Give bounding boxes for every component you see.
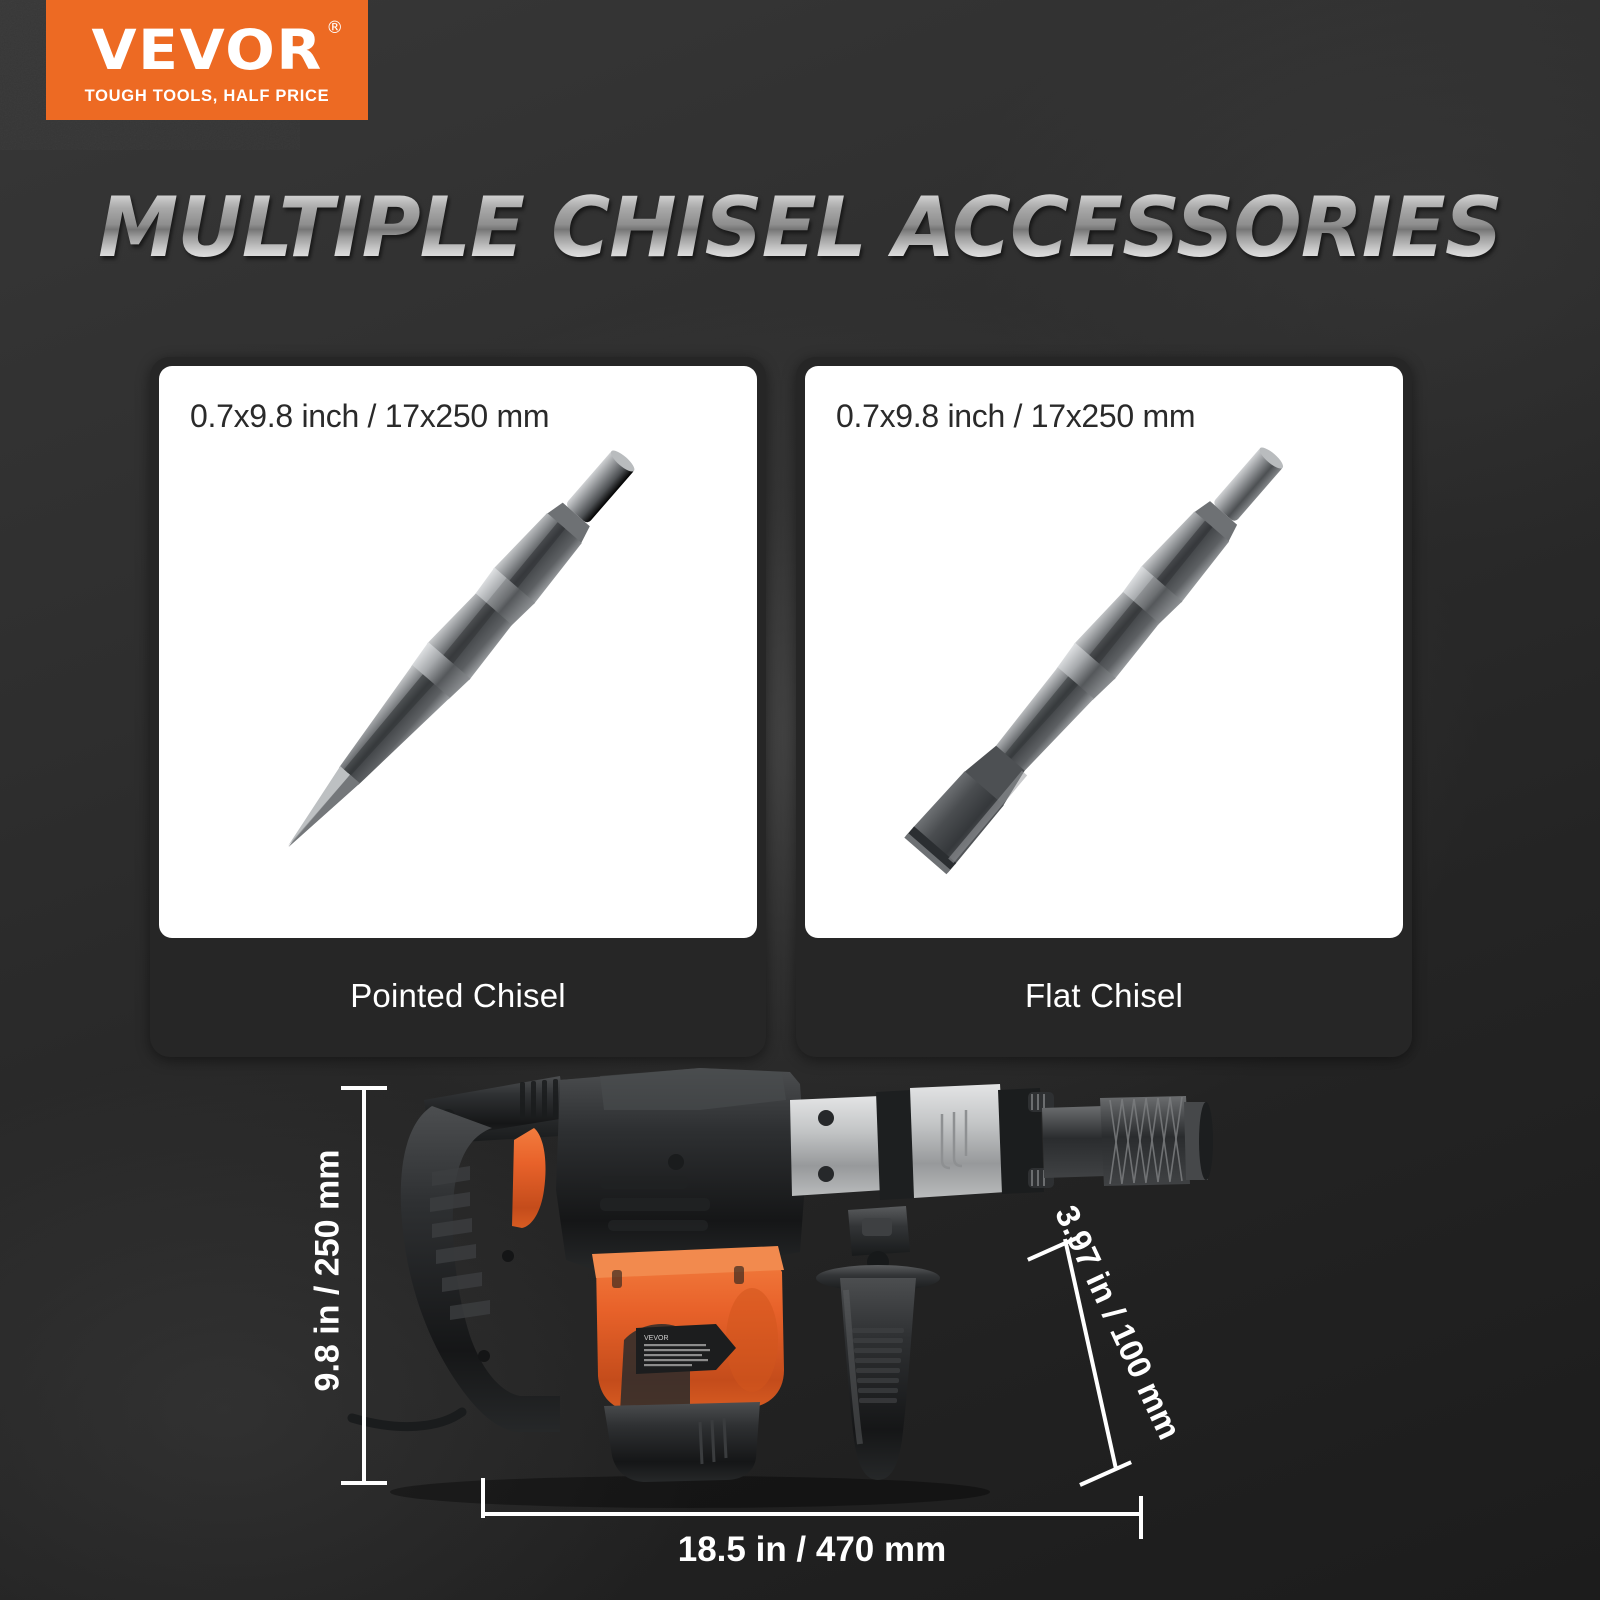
width-dimension-line [481,1512,1143,1516]
flat-chisel-illustration [805,366,1403,938]
width-dimension-cap-left [481,1478,485,1518]
rotary-hammer-drill-illustration: VEVOR [0,1040,1600,1510]
poster-canvas: VEVOR® TOUGH TOOLS, HALF PRICE MULTIPLE … [0,0,1600,1600]
brand-tagline: TOUGH TOOLS, HALF PRICE [85,87,330,106]
rotary-hammer-drill-photo: VEVOR [0,1040,1600,1510]
page-title: MULTIPLE CHISEL ACCESSORIES [24,186,1576,269]
width-dimension-label: 18.5 in / 470 mm [481,1530,1143,1570]
chisel-dimension-label: 0.7x9.8 inch / 17x250 mm [190,398,549,435]
chisel-card-flat: 0.7x9.8 inch / 17x250 mm Flat Chisel [796,357,1412,1057]
chisel-dimension-label: 0.7x9.8 inch / 17x250 mm [836,398,1195,435]
brand-wordmark: VEVOR® [91,23,322,78]
svg-text:VEVOR: VEVOR [644,1335,669,1342]
registered-trademark-icon: ® [326,20,343,37]
chisel-card-pointed: 0.7x9.8 inch / 17x250 mm Pointed Chisel [150,357,766,1057]
chisel-card-list: 0.7x9.8 inch / 17x250 mm Pointed Chisel [150,357,1412,1057]
page-title-text: MULTIPLE CHISEL ACCESSORIES [98,179,1502,276]
vevor-logo: VEVOR® TOUGH TOOLS, HALF PRICE [46,0,368,120]
pointed-chisel-photo: 0.7x9.8 inch / 17x250 mm [159,366,757,938]
height-dimension-label: 9.8 in / 250 mm [309,1111,348,1431]
height-dimension-line [362,1086,366,1485]
height-dimension-cap-top [341,1086,387,1090]
pointed-chisel-illustration [159,366,757,938]
height-dimension-cap-bottom [341,1481,387,1485]
flat-chisel-photo: 0.7x9.8 inch / 17x250 mm [805,366,1403,938]
